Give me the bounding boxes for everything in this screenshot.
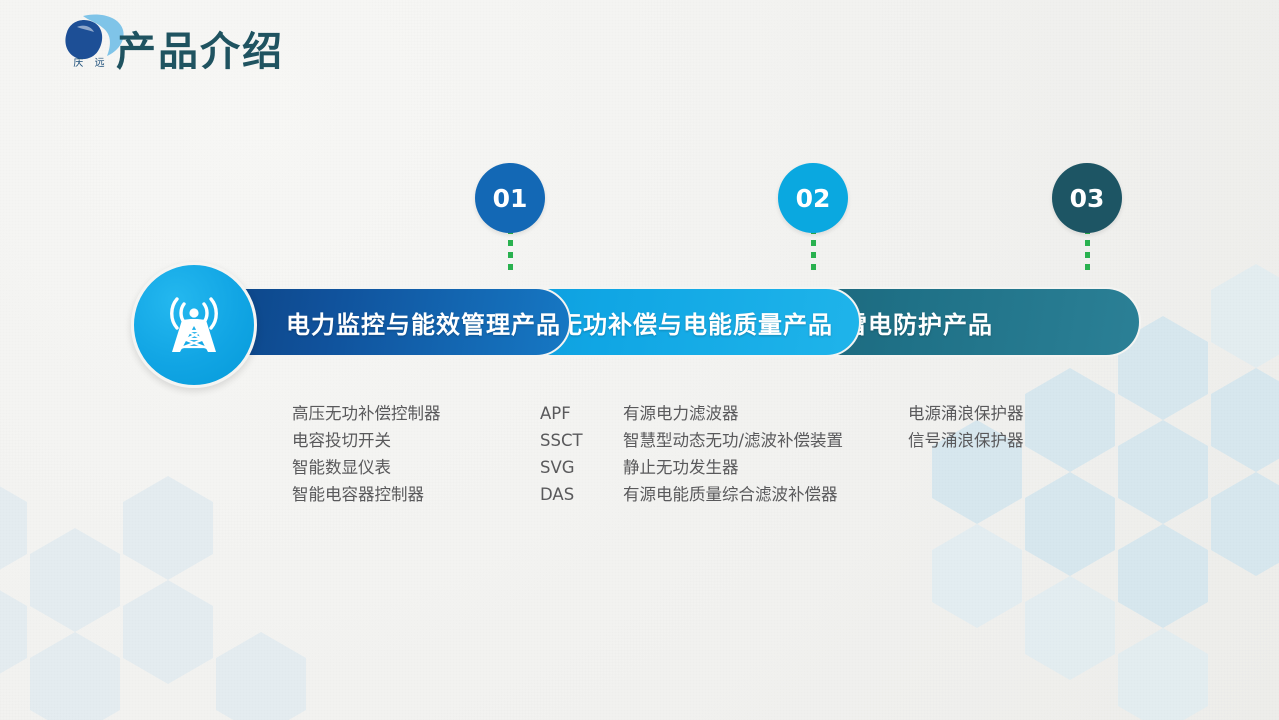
slide-header: 庆 远 产品介绍 xyxy=(0,0,1279,92)
page-title: 产品介绍 xyxy=(116,19,284,77)
product-list-column-1: 高压无功补偿控制器 电容投切开关 智能数显仪表 智能电容器控制器 xyxy=(292,400,441,508)
list-item: 有源电能质量综合滤波补偿器 xyxy=(623,481,843,508)
step-marker-03[interactable]: 03 xyxy=(1052,163,1122,233)
list-item: 电源涌浪保护器 xyxy=(908,400,1024,427)
product-list-column-2-abbreviations: APF SSCT SVG DAS xyxy=(540,400,583,508)
category-segment-2-label: 无功补偿与电能质量产品 xyxy=(558,305,833,340)
list-item: APF xyxy=(540,400,583,427)
list-item: 智能数显仪表 xyxy=(292,454,441,481)
category-ribbon: 雷电防护产品 无功补偿与电能质量产品 电力监控与能效管理产品 xyxy=(131,262,1141,382)
list-item: 智能电容器控制器 xyxy=(292,481,441,508)
step-marker-01-label: 01 xyxy=(493,184,528,213)
slide-canvas: 庆 远 产品介绍 01 02 03 雷电防护产品 无功补偿与电能质量产品 电力监… xyxy=(0,0,1279,720)
product-list-column-3: 电源涌浪保护器 信号涌浪保护器 xyxy=(908,400,1024,454)
list-item: 高压无功补偿控制器 xyxy=(292,400,441,427)
category-segment-3-label: 雷电防护产品 xyxy=(843,305,993,340)
step-marker-03-label: 03 xyxy=(1070,184,1105,213)
list-item: 信号涌浪保护器 xyxy=(908,427,1024,454)
list-item: SVG xyxy=(540,454,583,481)
list-item: 电容投切开关 xyxy=(292,427,441,454)
category-segment-1-label: 电力监控与能效管理产品 xyxy=(286,305,561,340)
list-item: SSCT xyxy=(540,427,583,454)
broadcast-tower-icon xyxy=(131,262,257,388)
step-marker-01[interactable]: 01 xyxy=(475,163,545,233)
list-item: 有源电力滤波器 xyxy=(623,400,843,427)
product-list-column-2-descriptions: 有源电力滤波器 智慧型动态无功/滤波补偿装置 静止无功发生器 有源电能质量综合滤… xyxy=(623,400,843,508)
list-item: 智慧型动态无功/滤波补偿装置 xyxy=(623,427,843,454)
list-item: DAS xyxy=(540,481,583,508)
list-item: 静止无功发生器 xyxy=(623,454,843,481)
step-marker-02-label: 02 xyxy=(796,184,831,213)
step-marker-02[interactable]: 02 xyxy=(778,163,848,233)
broadcast-tower-glyph xyxy=(155,286,233,364)
